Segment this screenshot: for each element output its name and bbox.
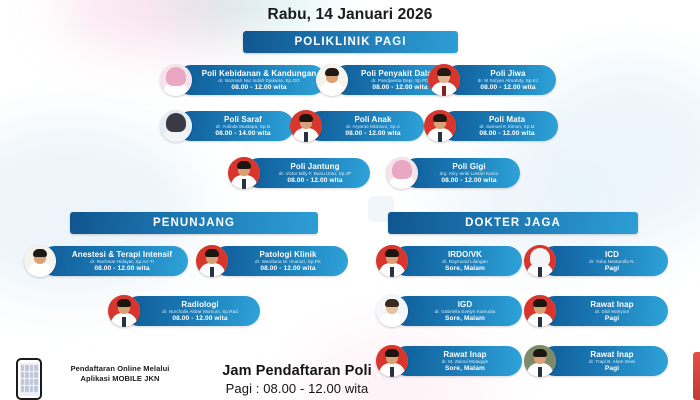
doctor-avatar (228, 157, 260, 189)
online-registration-note: Pendaftaran Online Melalui Aplikasi MOBI… (52, 364, 188, 384)
doctor-card-poli-name: IRDO/VK (448, 250, 482, 259)
doctor-card[interactable]: Radiologidr. Nurchalis Akbar Momuni, Sp.… (108, 295, 260, 327)
doctor-avatar (160, 64, 192, 96)
doctor-card-pill: IRDO/VKdr. Raymond LilanganSore, Malam (392, 246, 522, 276)
doctor-card[interactable]: IRDO/VKdr. Raymond LilanganSore, Malam (376, 245, 522, 277)
doctor-card[interactable]: ICDdr. Yuba Nestarolla N.Pagi (524, 245, 668, 277)
doctor-avatar (524, 345, 556, 377)
doctor-card-poli-name: Rawat Inap (590, 300, 633, 309)
doctor-card-pill: Poli Anakdr. Aryanto Iskinovo, Sp.A08.00… (306, 111, 424, 141)
doctor-avatar (524, 295, 556, 327)
doctor-card-poli-name: ICD (605, 250, 619, 259)
doctor-card-schedule-time: Pagi (605, 265, 619, 273)
doctor-card-schedule-time: Pagi (605, 365, 619, 373)
doctor-card-schedule-time: 08.00 - 14.00 wita (215, 130, 270, 138)
doctor-card[interactable]: Poli Anakdr. Aryanto Iskinovo, Sp.A08.00… (290, 110, 424, 142)
doctor-card-pill: Poli Jantungdr. Victor Billy F. Bunu Unt… (244, 158, 370, 188)
doctor-card-poli-name: Poli Saraf (224, 115, 262, 124)
doctor-card-poli-name: Poli Gigi (452, 162, 485, 171)
doctor-avatar (316, 64, 348, 96)
doctor-avatar (24, 245, 56, 277)
doctor-card-pill: Rawat Inapdr. Didi WahyuniPagi (540, 296, 668, 326)
doctor-card-poli-name: Rawat Inap (443, 350, 486, 359)
registration-hours-title: Jam Pendaftaran Poli (192, 362, 402, 380)
doctor-card-pill: Poli Matadr. Samuel K Simon, Sp.M08.00 -… (440, 111, 558, 141)
doctor-card-poli-name: Poli Anak (354, 115, 391, 124)
doctor-card-schedule-time: Sore, Malam (445, 315, 485, 323)
doctor-card[interactable]: Poli Jiwadr. M Sofyan Almahdy, Sp.KJ08.0… (428, 64, 556, 96)
doctor-card-schedule-time: 08.00 - 12.00 wita (172, 315, 227, 323)
doctor-card-schedule-time: 08.00 - 12.00 wita (372, 84, 427, 92)
doctor-card-pill: Poli Kebidanan & Kandungandr. Nazmah Nur… (176, 65, 326, 95)
doctor-card-schedule-time: 08.00 - 12.00 wita (260, 265, 315, 273)
doctor-card-poli-name: Poli Jiwa (490, 69, 525, 78)
edge-accent-stripe (693, 352, 700, 400)
doctor-card-poli-name: Radiologi (181, 300, 218, 309)
doctor-card-pill: Anestesi & Terapi Intensifdr. Rachmat Hi… (40, 246, 188, 276)
section-header-poliklinik: POLIKLINIK PAGI (243, 31, 458, 53)
doctor-avatar (524, 245, 556, 277)
doctor-card[interactable]: Poli Jantungdr. Victor Billy F. Bunu Unt… (228, 157, 370, 189)
doctor-card-schedule-time: Pagi (605, 315, 619, 323)
doctor-card-pill: Rawat Inapdr. M. Zainul MutaqqinSore, Ma… (392, 346, 522, 376)
doctor-card-poli-name: Poli Mata (489, 115, 525, 124)
doctor-card-schedule-time: 08.00 - 12.00 wita (287, 177, 342, 185)
doctor-card-pill: IGDdr. Gabriella Evelyn KamudiaSore, Mal… (392, 296, 522, 326)
doctor-avatar (290, 110, 322, 142)
registration-hours-morning: Pagi : 08.00 - 12.00 wita (192, 380, 402, 397)
section-header-penunjang-label: PENUNJANG (153, 217, 235, 229)
doctor-card-schedule-time: 08.00 - 12.00 wita (231, 84, 286, 92)
doctor-card-schedule-time: 08.00 - 12.00 wita (94, 265, 149, 273)
doctor-card-schedule-time: 08.00 - 12.00 wita (345, 130, 400, 138)
doctor-card-poli-name: Rawat Inap (590, 350, 633, 359)
section-header-dokter-jaga: DOKTER JAGA (388, 212, 638, 234)
doctor-card-poli-name: IGD (458, 300, 473, 309)
registration-hours-block: Jam Pendaftaran Poli Pagi : 08.00 - 12.0… (192, 362, 402, 397)
doctor-card-pill: Poli Jiwadr. M Sofyan Almahdy, Sp.KJ08.0… (444, 65, 556, 95)
doctor-avatar (108, 295, 140, 327)
doctor-card[interactable]: Rawat Inapdr. M. Zainul MutaqqinSore, Ma… (376, 345, 522, 377)
mobile-phone-icon (16, 358, 42, 400)
doctor-avatar (376, 245, 408, 277)
doctor-card[interactable]: Poli Sarafdr. Yulinda Mustapa, Sp.N08.00… (160, 110, 294, 142)
doctor-card[interactable]: Patologi Klinikdr. Werdiana M. Imanuri, … (196, 245, 348, 277)
doctor-avatar (424, 110, 456, 142)
doctor-card-poli-name: Poli Jantung (290, 162, 339, 171)
doctor-card[interactable]: Poli Gigidrg. Kiky Ienki Lestari Kanto08… (386, 157, 520, 189)
doctor-avatar (196, 245, 228, 277)
section-header-poliklinik-label: POLIKLINIK PAGI (294, 36, 406, 48)
section-header-dokter-jaga-label: DOKTER JAGA (465, 217, 561, 229)
doctor-card-poli-name: Poli Kebidanan & Kandungan (202, 69, 317, 78)
doctor-card-pill: Poli Gigidrg. Kiky Ienki Lestari Kanto08… (402, 158, 520, 188)
phone-screen (20, 363, 39, 396)
doctor-card-schedule-time: 08.00 - 12.00 wita (480, 84, 535, 92)
doctor-card-pill: Poli Sarafdr. Yulinda Mustapa, Sp.N08.00… (176, 111, 294, 141)
doctor-avatar (376, 345, 408, 377)
doctor-avatar (428, 64, 460, 96)
doctor-card-schedule-time: Sore, Malam (445, 365, 485, 373)
doctor-card-pill: ICDdr. Yuba Nestarolla N.Pagi (540, 246, 668, 276)
schedule-poster: Rabu, 14 Januari 2026 POLIKLINIK PAGI PE… (0, 0, 700, 400)
doctor-card[interactable]: IGDdr. Gabriella Evelyn KamudiaSore, Mal… (376, 295, 522, 327)
doctor-card[interactable]: Poli Kebidanan & Kandungandr. Nazmah Nur… (160, 64, 326, 96)
doctor-card-poli-name: Patologi Klinik (259, 250, 316, 259)
poster-date: Rabu, 14 Januari 2026 (0, 6, 700, 24)
doctor-card-schedule-time: 08.00 - 12.00 wita (479, 130, 534, 138)
online-registration-line2: Aplikasi MOBILE JKN (52, 374, 188, 384)
doctor-card-pill: Rawat Inapdr. Trapi B. Alam DewiPagi (540, 346, 668, 376)
doctor-card-poli-name: Anestesi & Terapi Intensif (72, 250, 172, 259)
doctor-avatar (160, 110, 192, 142)
online-registration-line1: Pendaftaran Online Melalui (52, 364, 188, 374)
doctor-card-pill: Patologi Klinikdr. Werdiana M. Imanuri, … (212, 246, 348, 276)
doctor-avatar (386, 157, 418, 189)
doctor-card[interactable]: Poli Matadr. Samuel K Simon, Sp.M08.00 -… (424, 110, 558, 142)
doctor-card-schedule-time: Sore, Malam (445, 265, 485, 273)
doctor-avatar (376, 295, 408, 327)
doctor-card[interactable]: Rawat Inapdr. Trapi B. Alam DewiPagi (524, 345, 668, 377)
doctor-card[interactable]: Rawat Inapdr. Didi WahyuniPagi (524, 295, 668, 327)
doctor-card-pill: Radiologidr. Nurchalis Akbar Momuni, Sp.… (124, 296, 260, 326)
section-header-penunjang: PENUNJANG (70, 212, 318, 234)
doctor-card[interactable]: Anestesi & Terapi Intensifdr. Rachmat Hi… (24, 245, 188, 277)
doctor-card-schedule-time: 08.00 - 12.00 wita (441, 177, 496, 185)
